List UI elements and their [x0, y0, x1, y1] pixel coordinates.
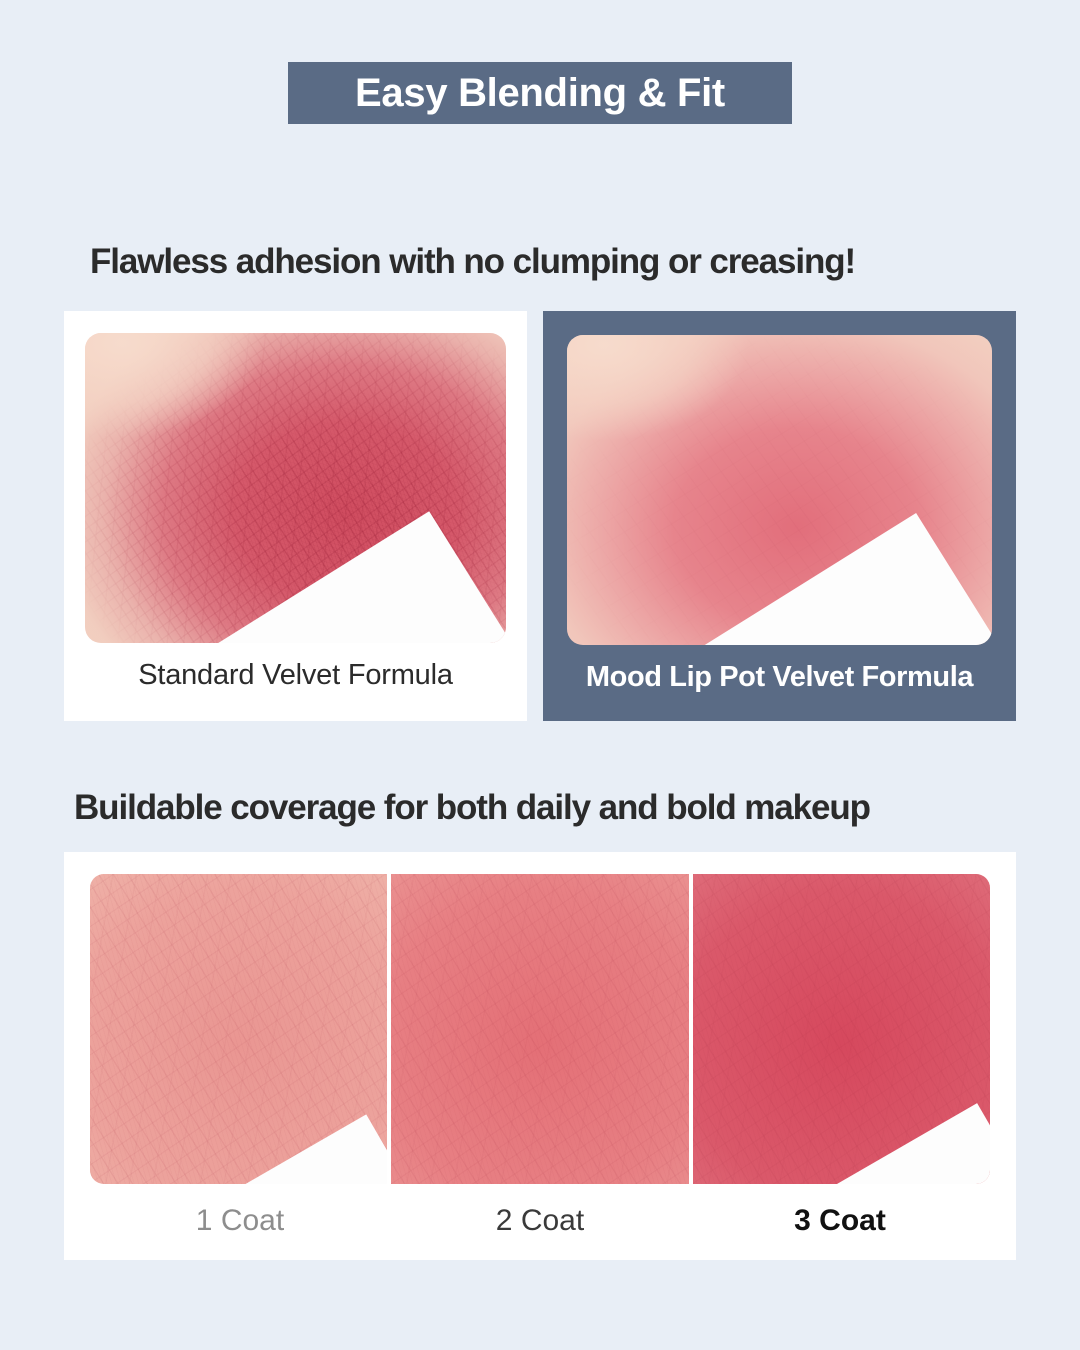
comparison-card-standard: Standard Velvet Formula: [64, 311, 527, 721]
skin-swatch-image: [391, 874, 688, 1184]
bare-skin-area: [567, 335, 831, 496]
fine-texture: [391, 874, 688, 1184]
skin-swatch-image: [693, 874, 990, 1184]
title-banner: Easy Blending & Fit: [288, 62, 792, 124]
swatch-photo-standard-velvet: [85, 333, 506, 643]
skin-swatch-image: [90, 874, 387, 1184]
product-feature-page: { "page": { "background_color": "#e8eef6…: [0, 0, 1080, 1350]
coat-label-1: 1 Coat: [90, 1204, 390, 1238]
coat-label-row: 1 Coat 2 Coat 3 Coat: [90, 1204, 990, 1238]
caption-mood-lip-pot-velvet-formula: Mood Lip Pot Velvet Formula: [586, 661, 973, 694]
coat-swatch-1: [90, 874, 387, 1184]
bare-skin-area: [85, 333, 346, 494]
skin-swatch-image: [85, 333, 506, 643]
section-heading-buildable: Buildable coverage for both daily and bo…: [74, 788, 870, 828]
coat-label-2: 2 Coat: [390, 1204, 690, 1238]
coat-swatch-row: [90, 874, 990, 1184]
buildable-coverage-card: 1 Coat 2 Coat 3 Coat: [64, 852, 1016, 1260]
comparison-row: Standard Velvet Formula Mood Lip Pot Vel…: [64, 311, 1016, 721]
coat-swatch-3: [693, 874, 990, 1184]
skin-swatch-image: [567, 335, 992, 645]
page-title: Easy Blending & Fit: [355, 71, 725, 116]
comparison-card-mood-lip-pot: Mood Lip Pot Velvet Formula: [543, 311, 1016, 721]
caption-standard-velvet-formula: Standard Velvet Formula: [138, 659, 453, 692]
swatch-photo-mood-lip-pot: [567, 335, 992, 645]
section-heading-adhesion: Flawless adhesion with no clumping or cr…: [90, 242, 855, 282]
coat-swatch-2: [391, 874, 688, 1184]
coat-label-3: 3 Coat: [690, 1204, 990, 1238]
